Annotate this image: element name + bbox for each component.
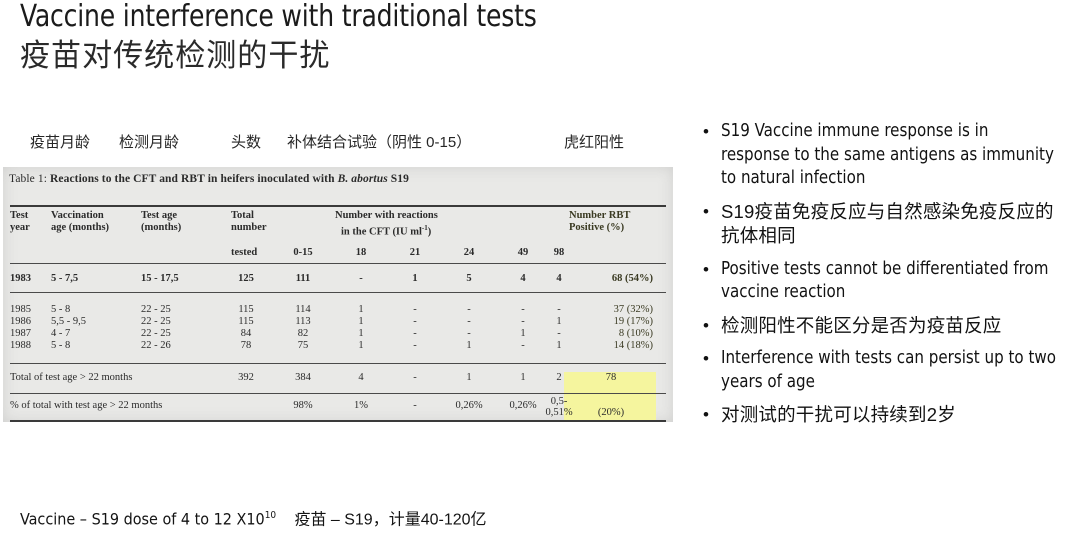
row-1983-cft-18: -	[341, 273, 381, 285]
table-rule-rows-bottom	[10, 363, 666, 364]
row-1986-cft-0-15: 113	[283, 316, 323, 328]
row-1988-cft-24: 1	[449, 340, 489, 352]
percent-row-cft-24: 0,26%	[449, 400, 489, 412]
row-1988-cft-18: 1	[341, 340, 381, 352]
row-1986-vaccination-age: 5,5 - 9,5	[51, 316, 86, 328]
row-1983-vaccination-age: 5 - 7,5	[51, 273, 78, 285]
zh-column-label-0: 疫苗月龄	[30, 131, 90, 152]
row-1987-cft-49: 1	[503, 328, 543, 340]
scanned-table-image: Table 1: Reactions to the CFT and RBT in…	[3, 167, 673, 422]
row-1986-test-age: 22 - 25	[141, 316, 171, 328]
row-1987-cft-0-15: 82	[283, 328, 323, 340]
row-1987-rbt: 8 (10%)	[573, 328, 653, 340]
chinese-column-labels: 疫苗月龄检测月龄头数补体结合试验（阴性 0-15）虎红阳性	[0, 131, 680, 155]
row-1985-rbt: 37 (32%)	[573, 304, 653, 316]
bullet-item-1: •S19疫苗免疫反应与自然感染免疫反应的抗体相同	[694, 200, 1072, 249]
row-1985-cft-24: -	[449, 304, 489, 316]
cft-column-header-98: 98	[539, 247, 579, 259]
row-1988-test-age: 22 - 26	[141, 340, 171, 352]
header-total-tested: tested	[231, 247, 257, 259]
footer-superscript: 10	[265, 510, 276, 521]
cft-column-header-21: 21	[395, 247, 435, 259]
header-reactions-text: in the CFT (IU ml	[341, 227, 422, 238]
row-1983-rbt: 68 (54%)	[573, 273, 653, 285]
table-rule-1983-bottom	[10, 292, 666, 293]
table-caption-text-2: S19	[391, 173, 409, 185]
percent-row-cft-18: 1%	[341, 400, 381, 412]
row-1988-vaccination-age: 5 - 8	[51, 340, 70, 352]
row-1986-cft-21: -	[395, 316, 435, 328]
bullet-dot-icon: •	[703, 258, 709, 281]
row-1983-cft-0-15: 111	[283, 273, 323, 285]
table-caption-label: Table 1:	[9, 173, 47, 185]
bullet-text-3: 检测阳性不能区分是否为疫苗反应	[721, 314, 1072, 339]
total-row-rbt: 78	[591, 372, 631, 384]
percent-row-cft-0-15: 98%	[283, 400, 323, 412]
bullet-text-2: Positive tests cannot be differentiated …	[721, 258, 1058, 305]
table-caption-italic: B. abortus	[338, 173, 388, 185]
total-row-cft-98: 2	[539, 372, 579, 384]
row-1985-test-age: 22 - 25	[141, 304, 171, 316]
total-row-total: 392	[226, 372, 266, 384]
row-1985-cft-49: -	[503, 304, 543, 316]
table-rule-top	[10, 205, 666, 207]
bullet-item-2: •Positive tests cannot be differentiated…	[694, 258, 1072, 305]
bullet-dot-icon: •	[703, 120, 709, 143]
total-row-cft-21: -	[395, 372, 435, 384]
row-1987-year: 1987	[10, 328, 31, 340]
zh-column-label-2: 头数	[231, 131, 261, 152]
row-1987-vaccination-age: 4 - 7	[51, 328, 70, 340]
row-1988-year: 1988	[10, 340, 31, 352]
table-caption-text-1: Reactions to the CFT and RBT in heifers …	[50, 173, 335, 185]
table-caption: Table 1: Reactions to the CFT and RBT in…	[9, 173, 409, 185]
header-reactions-paren: )	[428, 227, 432, 238]
row-1987-cft-24: -	[449, 328, 489, 340]
header-vaccination-age-l1: Vaccination	[51, 210, 104, 222]
footer-caption: Vaccine – S19 dose of 4 to 12 X1010 疫苗 –…	[20, 505, 720, 531]
bullet-text-5: 对测试的干扰可以持续到2岁	[721, 403, 1072, 428]
bullet-item-0: •S19 Vaccine immune response is in respo…	[694, 120, 1072, 191]
slide-title-block: Vaccine interference with traditional te…	[20, 0, 740, 76]
percent-row-cft-21: -	[395, 400, 435, 412]
total-row-cft-49: 1	[503, 372, 543, 384]
table-rule-bottom	[10, 420, 666, 422]
cft-column-header-18: 18	[341, 247, 381, 259]
row-1986-rbt: 19 (17%)	[573, 316, 653, 328]
table-rule-header	[10, 263, 666, 264]
row-1985-cft-18: 1	[341, 304, 381, 316]
percent-row-rbt: (20%)	[591, 407, 631, 419]
header-vaccination-age-l2: age (months)	[51, 222, 109, 234]
bullet-dot-icon: •	[703, 403, 709, 426]
row-1987-test-age: 22 - 25	[141, 328, 171, 340]
bullet-text-1: S19疫苗免疫反应与自然感染免疫反应的抗体相同	[721, 200, 1072, 249]
bullet-dot-icon: •	[703, 314, 709, 337]
footer-chinese: 疫苗 – S19，计量40-120亿	[294, 511, 486, 528]
zh-column-label-4: 虎红阳性	[564, 131, 624, 152]
row-1986-total: 115	[226, 316, 266, 328]
bullet-list: •S19 Vaccine immune response is in respo…	[694, 120, 1072, 437]
percent-row-cft-98-line2: 0,51%	[539, 407, 579, 419]
row-1987-cft-18: 1	[341, 328, 381, 340]
cft-column-header-24: 24	[449, 247, 489, 259]
row-1983-total: 125	[226, 273, 266, 285]
header-reactions-l1: Number with reactions	[335, 210, 438, 222]
page-title-english: Vaccine interference with traditional te…	[20, 0, 690, 36]
row-1986-year: 1986	[10, 316, 31, 328]
row-1985-year: 1985	[10, 304, 31, 316]
row-1986-cft-18: 1	[341, 316, 381, 328]
row-1985-cft-21: -	[395, 304, 435, 316]
row-1988-rbt: 14 (18%)	[573, 340, 653, 352]
zh-column-label-3: 补体结合试验（阴性 0-15）	[287, 131, 471, 152]
bullet-item-4: •Interference with tests can persist up …	[694, 347, 1072, 394]
bullet-dot-icon: •	[703, 200, 709, 223]
header-total-number-l1: Total	[231, 210, 254, 222]
zh-column-label-1: 检测月龄	[119, 131, 179, 152]
header-total-number-l2: number	[231, 222, 267, 234]
header-test-year-l2: year	[10, 222, 30, 234]
row-1983-cft-49: 4	[503, 273, 543, 285]
header-rbt-l1: Number RBT	[569, 210, 630, 222]
bullet-item-5: •对测试的干扰可以持续到2岁	[694, 403, 1072, 428]
header-test-year-l1: Test	[10, 210, 28, 222]
total-row-cft-0-15: 384	[283, 372, 323, 384]
total-row-cft-24: 1	[449, 372, 489, 384]
header-test-age-l1: Test age	[141, 210, 177, 222]
row-1988-cft-0-15: 75	[283, 340, 323, 352]
page-title-chinese: 疫苗对传统检测的干扰	[20, 36, 718, 76]
total-row-label: Total of test age > 22 months	[10, 372, 132, 384]
row-1988-cft-49: -	[503, 340, 543, 352]
row-1983-cft-24: 5	[449, 273, 489, 285]
row-1988-cft-21: -	[395, 340, 435, 352]
footer-english: Vaccine – S19 dose of 4 to 12 X10	[20, 509, 265, 528]
cft-column-header-0-15: 0-15	[283, 247, 323, 259]
row-1985-total: 115	[226, 304, 266, 316]
row-1983-test-age: 15 - 17,5	[141, 273, 179, 285]
row-1985-cft-0-15: 114	[283, 304, 323, 316]
total-row-cft-18: 4	[341, 372, 381, 384]
row-1983-cft-21: 1	[395, 273, 435, 285]
header-reactions-l2: in the CFT (IU ml-1)	[341, 222, 431, 239]
bullet-text-0: S19 Vaccine immune response is in respon…	[721, 120, 1058, 191]
percent-row-label: % of total with test age > 22 months	[10, 400, 162, 412]
percent-row-cft-49: 0,26%	[503, 400, 543, 412]
table-rule-total	[10, 393, 666, 394]
row-1986-cft-49: -	[503, 316, 543, 328]
row-1987-total: 84	[226, 328, 266, 340]
bullet-item-3: •检测阳性不能区分是否为疫苗反应	[694, 314, 1072, 339]
cft-column-header-49: 49	[503, 247, 543, 259]
header-test-age-l2: (months)	[141, 222, 181, 234]
row-1983-year: 1983	[10, 273, 31, 285]
row-1987-cft-21: -	[395, 328, 435, 340]
bullet-text-4: Interference with tests can persist up t…	[721, 347, 1058, 394]
row-1985-vaccination-age: 5 - 8	[51, 304, 70, 316]
bullet-dot-icon: •	[703, 347, 709, 370]
header-rbt-l2: Positive (%)	[569, 222, 624, 234]
row-1986-cft-24: -	[449, 316, 489, 328]
row-1988-total: 78	[226, 340, 266, 352]
